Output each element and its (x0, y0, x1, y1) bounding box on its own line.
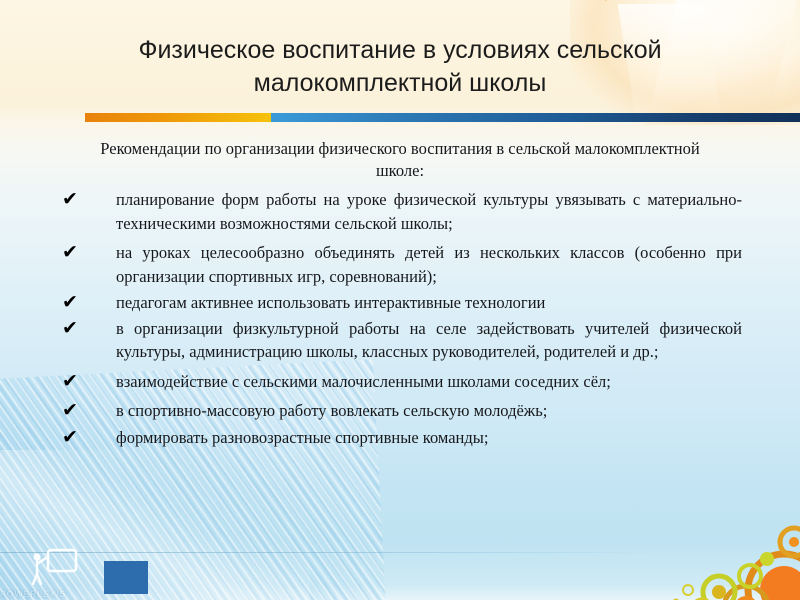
list-item-text: в организации физкультурной работы на се… (116, 319, 742, 362)
title-divider-bar (85, 113, 800, 122)
list-item: ✔ планирование форм работы на уроке физи… (0, 188, 800, 235)
powerlexis-logo (22, 546, 100, 592)
slide-title-line-1: Физическое воспитание в условиях сельско… (60, 34, 740, 67)
divider-cool-segment (271, 113, 800, 122)
presentation-slide: Физическое воспитание в условиях сельско… (0, 0, 800, 600)
check-icon: ✔ (62, 291, 78, 315)
list-item-text: взаимодействие с сельскими малочисленным… (116, 372, 611, 391)
blue-rectangle-placeholder (104, 561, 148, 594)
check-icon: ✔ (62, 399, 78, 423)
presenter-board-icon (33, 550, 76, 584)
list-item-text: планирование форм работы на уроке физиче… (116, 190, 742, 233)
check-icon: ✔ (62, 241, 78, 265)
list-item-text: на уроках целесообразно объединять детей… (116, 243, 742, 286)
slide-title-line-2: малокомплектной школы (60, 67, 740, 100)
check-icon: ✔ (62, 188, 78, 212)
list-item: ✔ взаимодействие с сельскими малочисленн… (0, 370, 800, 394)
check-icon: ✔ (62, 317, 78, 341)
list-item: ✔ в спортивно-массовую работу вовлекать … (0, 399, 800, 423)
list-item: ✔ в организации физкультурной работы на … (0, 317, 800, 364)
list-item-text: в спортивно-массовую работу вовлекать се… (116, 401, 547, 420)
lead-paragraph: Рекомендации по организации физического … (95, 138, 705, 182)
list-item: ✔ педагогам активнее использовать интера… (0, 291, 800, 315)
slide-title: Физическое воспитание в условиях сельско… (60, 34, 740, 100)
list-item: ✔ формировать разновозрастные спортивные… (0, 426, 800, 450)
check-icon: ✔ (62, 370, 78, 394)
slide-body: Рекомендации по организации физического … (0, 138, 800, 449)
list-item-text: формировать разновозрастные спортивные к… (116, 428, 488, 447)
list-item-text: педагогам активнее использовать интеракт… (116, 293, 545, 312)
list-item: ✔ на уроках целесообразно объединять дет… (0, 241, 800, 288)
divider-warm-segment (85, 113, 271, 122)
circles-decoration (580, 516, 800, 600)
bullet-list: ✔ планирование форм работы на уроке физи… (0, 188, 800, 449)
check-icon: ✔ (62, 426, 78, 450)
